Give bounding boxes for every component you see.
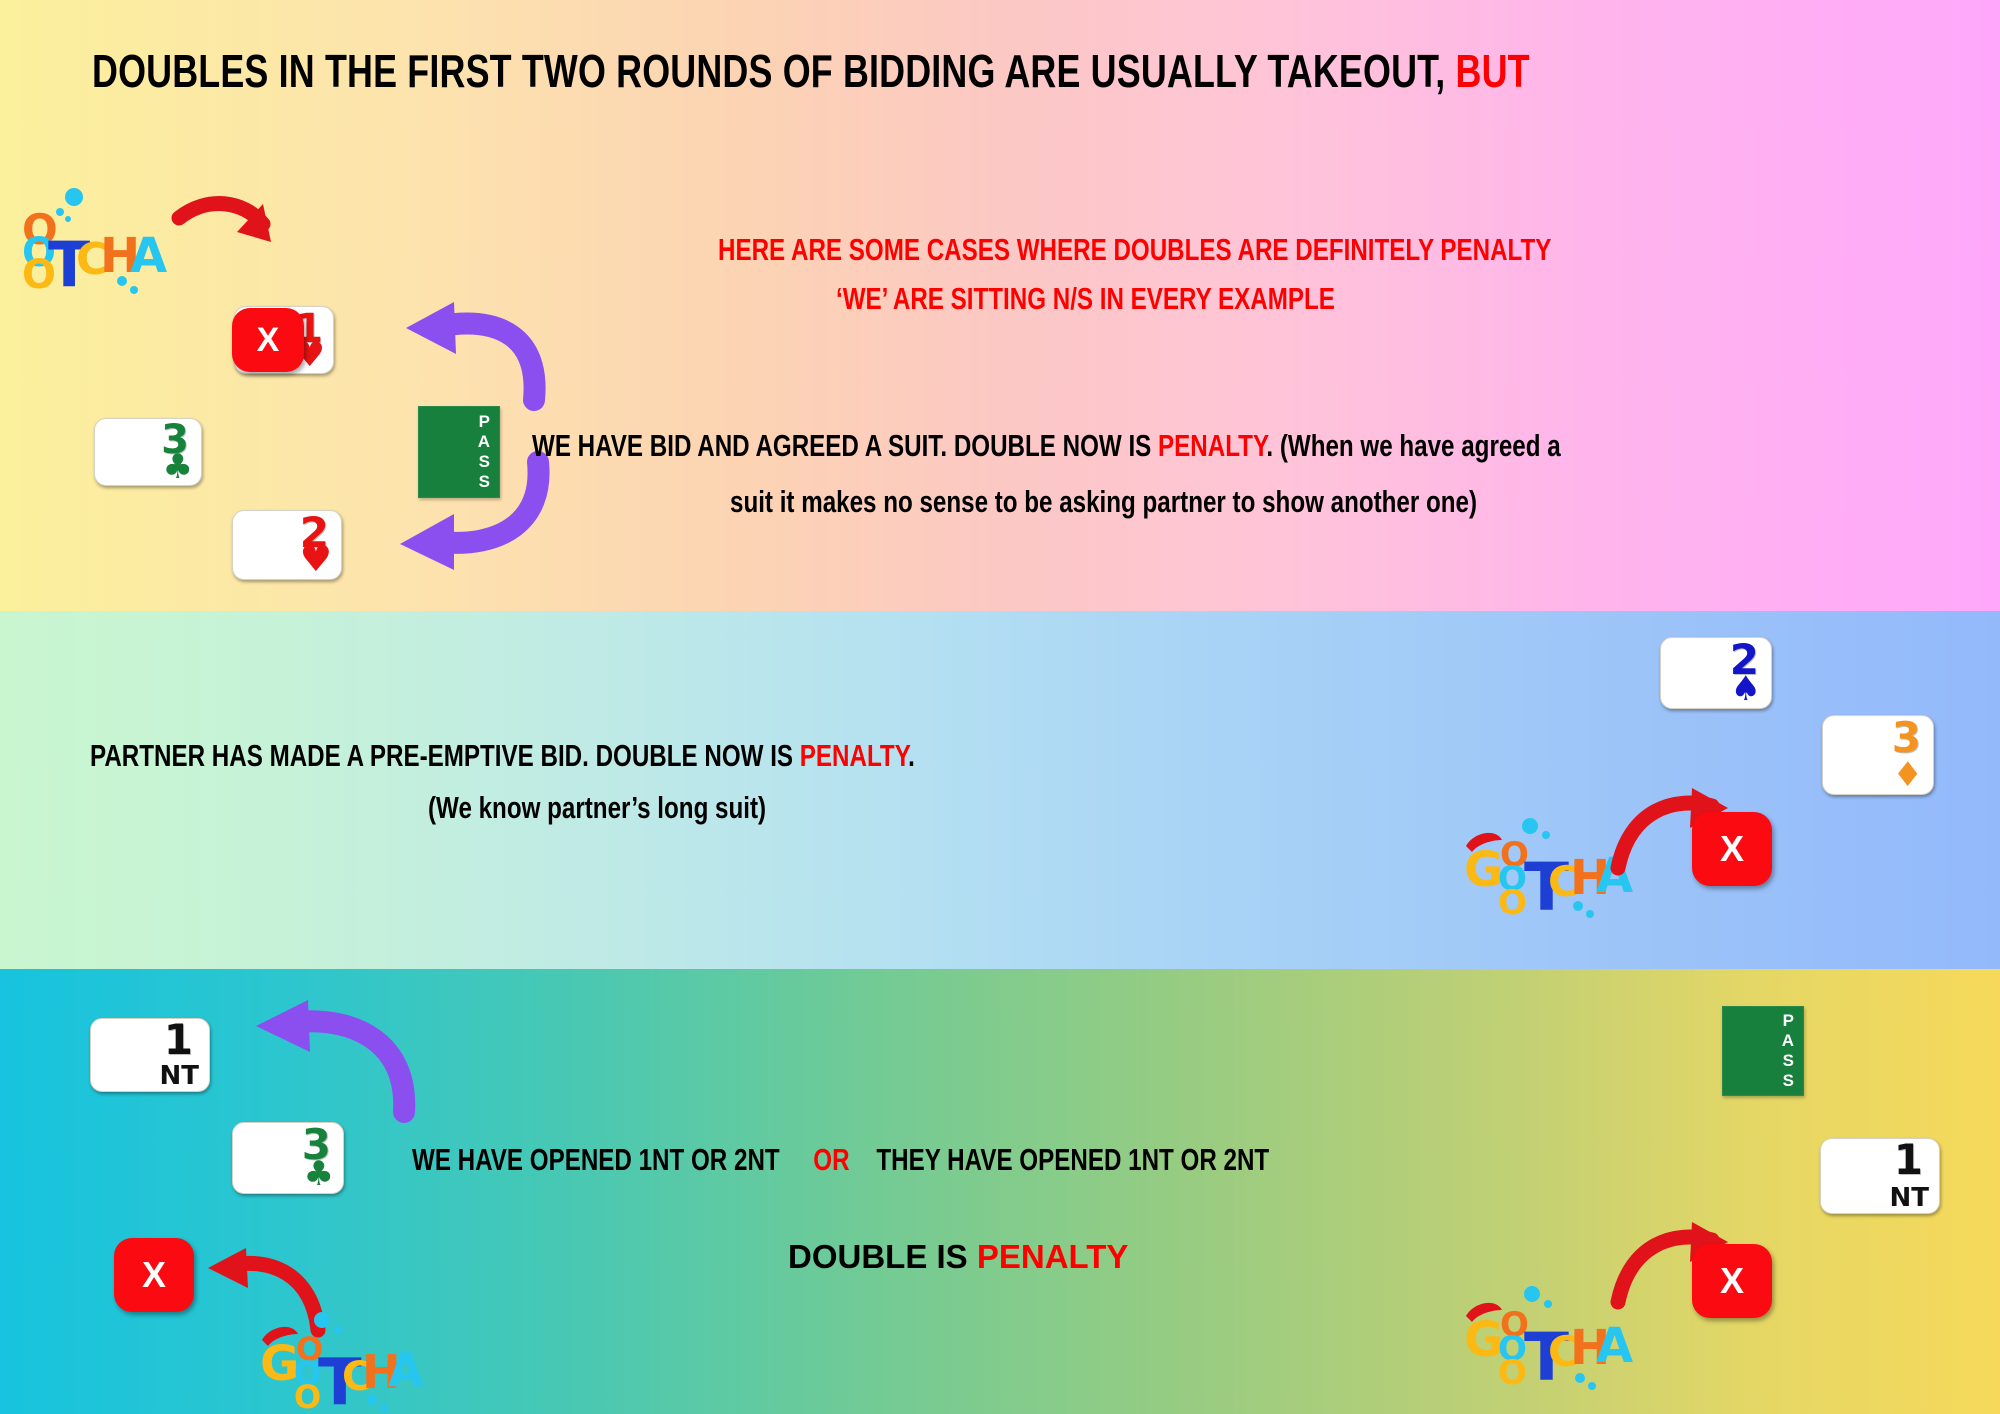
gotcha-logo: G O O O T C H A [260, 1308, 420, 1413]
double-card[interactable]: X [1692, 812, 1772, 886]
svg-text:A: A [388, 1343, 424, 1397]
gotcha-logo: G O O O T C H A [1462, 1280, 1622, 1390]
page-title-main: DOUBLES IN THE FIRST TWO ROUNDS OF BIDDI… [92, 45, 1445, 97]
slide-canvas: DOUBLES IN THE FIRST TWO ROUNDS OF BIDDI… [0, 0, 2000, 1414]
svg-text:A: A [130, 228, 167, 284]
bid-card-1-notrump[interactable]: 1 NT [1820, 1138, 1940, 1214]
section-3-line-1: WE HAVE OPENED 1NT OR 2NT OR THEY HAVE O… [412, 1142, 1511, 1178]
bid-card-3-diamonds[interactable]: 3 ♦ [1822, 715, 1934, 795]
gotcha-logo: O O O T C H A [22, 186, 182, 296]
section-2-line-1: PARTNER HAS MADE A PRE-EMPTIVE BID. DOUB… [90, 738, 1148, 774]
section-3-line-2: DOUBLE IS PENALTY [788, 1238, 1128, 1276]
bid-card-2-hearts[interactable]: 2 ♥ [232, 510, 342, 580]
bid-card-2-spades[interactable]: 2 ♠ [1660, 637, 1772, 709]
svg-text:A: A [1596, 1318, 1633, 1374]
purple-arrow-left [236, 1000, 416, 1120]
subtitle-line-2: ‘WE’ ARE SITTING N/S IN EVERY EXAMPLE [836, 281, 1476, 317]
red-arrow-to-double [175, 190, 285, 270]
purple-arrow-up [392, 300, 542, 410]
purple-arrow-down [388, 452, 548, 572]
page-title-accent: BUT [1456, 45, 1530, 97]
double-card[interactable]: X [1692, 1244, 1772, 1318]
section-2-line-2: (We know partner’s long suit) [428, 790, 861, 826]
bid-card-1-notrump[interactable]: 1 NT [90, 1018, 210, 1092]
section-1-line-1: WE HAVE BID AND AGREED A SUIT. DOUBLE NO… [532, 428, 1851, 464]
page-title: DOUBLES IN THE FIRST TWO ROUNDS OF BIDDI… [92, 44, 1935, 98]
svg-text:O: O [1498, 1353, 1527, 1393]
bid-card-3-clubs[interactable]: 3 ♣ [94, 418, 202, 486]
double-card[interactable]: X [114, 1238, 194, 1312]
svg-text:O: O [1498, 883, 1527, 923]
double-card[interactable]: X [232, 308, 304, 372]
section-1-line-2: suit it makes no sense to be asking part… [730, 484, 1688, 520]
pass-card[interactable]: P A S S [1722, 1006, 1804, 1096]
gotcha-logo: G O O O T C H A [1462, 810, 1622, 920]
subtitle-line-1: HERE ARE SOME CASES WHERE DOUBLES ARE DE… [718, 232, 1787, 268]
bid-card-3-clubs[interactable]: 3 ♣ [232, 1122, 344, 1194]
